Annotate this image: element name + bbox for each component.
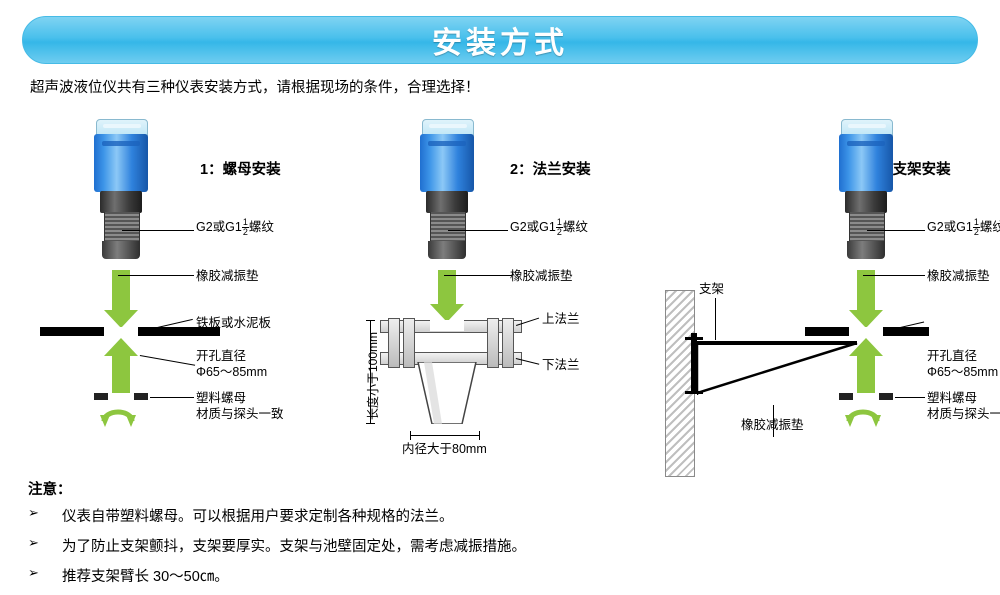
notes-title: 注意： [28, 478, 526, 499]
note-item: ➢ 推荐支架臂长 30～50㎝。 [28, 565, 526, 586]
note-item: ➢ 仪表自带塑料螺母。可以根据用户要求定制各种规格的法兰。 [28, 505, 526, 526]
label-thread-2: G2或G112螺纹 [510, 218, 588, 237]
device-body [420, 134, 474, 192]
label-lower-flange: 下法兰 [542, 357, 580, 374]
panel-nut-install: 1：螺母安装 G2或G112螺纹 橡胶减振垫 铁板或水泥板 开孔直径 Φ65～8… [10, 105, 340, 465]
emission-arrow-down [104, 270, 138, 328]
label-thread-3: G2或G112螺纹 [927, 218, 1000, 237]
bracket-diagonal-support [697, 341, 859, 397]
label-hole-size-3: Φ65～85mm [927, 364, 998, 381]
flange-cone [416, 362, 478, 424]
device-thread [430, 212, 466, 242]
label-plate-1: 铁板或水泥板 [196, 315, 271, 332]
plastic-nut-hole [853, 393, 879, 400]
device-body [94, 134, 148, 192]
device-thread [104, 212, 140, 242]
panel-1-title: 1：螺母安装 [200, 158, 281, 179]
emission-arrow-down [430, 270, 464, 322]
rotate-arrow-icon [843, 405, 883, 431]
flange-bolt [487, 318, 499, 368]
device-neck [845, 191, 887, 213]
label-hole-title-1: 开孔直径 [196, 348, 246, 365]
label-length-2: 长度小于100mm [364, 332, 381, 420]
label-rubber-pad-3: 橡胶减振垫 [927, 268, 990, 285]
device-probe [428, 241, 466, 259]
flange-hole [430, 320, 464, 331]
flange-bolt [502, 318, 514, 368]
device-neck [426, 191, 468, 213]
leader-line [150, 397, 194, 398]
bullet-icon: ➢ [28, 535, 62, 551]
device-slot [847, 141, 885, 146]
device-neck [100, 191, 142, 213]
bullet-icon: ➢ [28, 565, 62, 581]
plastic-nut-hole [108, 393, 134, 400]
label-bracket: 支架 [699, 281, 724, 298]
note-text: 为了防止支架颤抖，支架要厚实。支架与池壁固定处，需考虑减振措施。 [62, 535, 526, 556]
bullet-icon: ➢ [28, 505, 62, 521]
device-probe [847, 241, 885, 259]
flange-bolt [403, 318, 415, 368]
label-rubber-pad-bracket: 橡胶减振垫 [741, 417, 804, 434]
page-banner: 安装方式 [22, 16, 978, 64]
bracket-bolt [685, 391, 703, 394]
page-title: 安装方式 [432, 18, 568, 62]
panel-flange-install: 2：法兰安装 长度小于100mm 内径大于80mm G2或G112螺纹 橡胶减振… [330, 105, 660, 465]
panel-bracket-install: 3：支架安装 支架 G2或G112螺纹 橡胶减振垫 开 [655, 105, 1000, 465]
note-text: 推荐支架臂长 30～50㎝。 [62, 565, 229, 586]
label-nut-3: 塑料螺母 [927, 390, 977, 407]
label-rubber-pad-1: 橡胶减振垫 [196, 268, 259, 285]
note-text: 仪表自带塑料螺母。可以根据用户要求定制各种规格的法兰。 [62, 505, 454, 526]
label-upper-flange: 上法兰 [542, 311, 580, 328]
leader-line [118, 275, 194, 276]
device-thread [849, 212, 885, 242]
plate-hole [104, 327, 138, 336]
echo-arrow-up [849, 338, 883, 396]
plate-hole [849, 327, 883, 336]
label-nut-sub-3: 材质与探头一致 [927, 406, 1000, 423]
device-body [839, 134, 893, 192]
flange-bolt [388, 318, 400, 368]
intro-text: 超声波液位仪共有三种仪表安装方式，请根据现场的条件，合理选择！ [30, 76, 480, 97]
label-rubber-pad-2: 橡胶减振垫 [510, 268, 573, 285]
echo-arrow-up [104, 338, 138, 396]
label-inner-dia-2: 内径大于80mm [402, 441, 487, 458]
panel-2-title: 2：法兰安装 [510, 158, 591, 179]
label-hole-title-3: 开孔直径 [927, 348, 977, 365]
device-slot [428, 141, 466, 146]
device-slot [102, 141, 140, 146]
leader-line [140, 355, 195, 366]
label-thread-1: G2或G112螺纹 [196, 218, 274, 237]
note-item: ➢ 为了防止支架颤抖，支架要厚实。支架与池壁固定处，需考虑减振措施。 [28, 535, 526, 556]
label-nut-sub-1: 材质与探头一致 [196, 406, 284, 423]
leader-line [122, 230, 194, 231]
device-probe [102, 241, 140, 259]
emission-arrow-down [849, 270, 883, 328]
bracket-bolt [685, 337, 703, 340]
rotate-arrow-icon [98, 405, 138, 431]
label-hole-size-1: Φ65～85mm [196, 364, 267, 381]
notes-section: 注意： ➢ 仪表自带塑料螺母。可以根据用户要求定制各种规格的法兰。 ➢ 为了防止… [28, 478, 526, 595]
label-nut-1: 塑料螺母 [196, 390, 246, 407]
